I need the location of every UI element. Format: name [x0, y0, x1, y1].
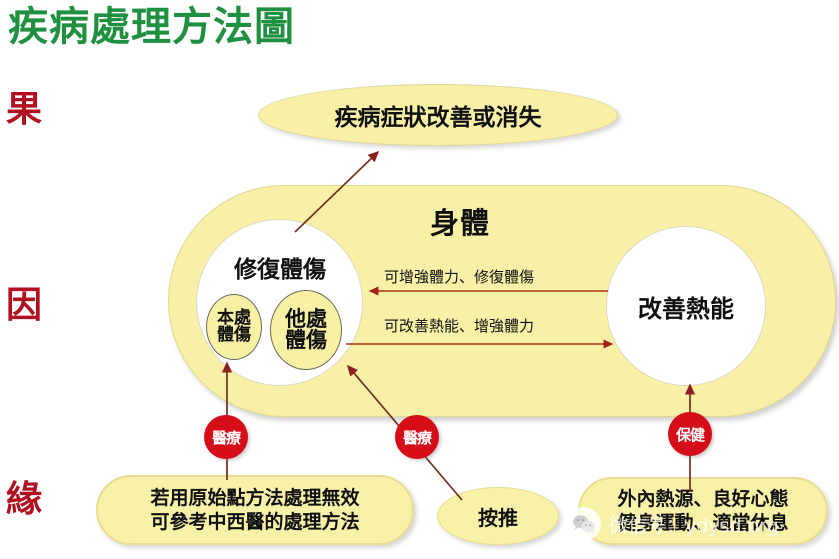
remote-injury-label: 他處體傷 [285, 309, 327, 351]
remote-injury-circle: 他處體傷 [270, 290, 342, 370]
local-injury-label: 本處體傷 [217, 310, 251, 344]
bottom-left-note-line1: 若用原始點方法處理無效 [150, 486, 359, 510]
badge-healthcare[interactable]: 保健 [668, 412, 712, 456]
local-injury-circle: 本處體傷 [206, 294, 262, 360]
badge-medical-2[interactable]: 醫療 [395, 415, 439, 459]
improve-heat-circle: 改善熱能 [606, 226, 766, 386]
flow-label-to-right: 可改善熱能、增強體力 [384, 315, 534, 336]
bottom-right-note-line1: 外內熱源、良好心態 [617, 487, 788, 511]
bottom-left-note-line2: 可參考中西醫的處理方法 [150, 510, 359, 534]
bottom-mid-note-label: 按推 [478, 502, 518, 531]
axis-label-condition: 緣 [6, 482, 42, 518]
diagram-canvas: 疾病處理方法圖 果 因 緣 身體 修復體傷 本處體傷 他處體傷 改善熱能 可增強… [0, 0, 839, 559]
axis-label-effect: 果 [6, 92, 42, 128]
badge-medical-1-label: 醫療 [212, 427, 240, 448]
badge-medical-1[interactable]: 醫療 [204, 415, 248, 459]
bottom-mid-note: 按推 [437, 487, 559, 545]
improve-heat-label: 改善熱能 [638, 289, 734, 324]
outcome-ellipse: 疾病症狀改善或消失 [258, 84, 618, 146]
badge-medical-2-label: 醫療 [403, 427, 431, 448]
bottom-right-note-line2: 健身運動、適當休息 [617, 511, 788, 535]
body-label: 身體 [430, 200, 490, 242]
repair-injury-label: 修復體傷 [212, 250, 348, 284]
bottom-right-note: 外內熱源、良好心態 健身運動、適當休息 [578, 477, 828, 545]
badge-healthcare-label: 保健 [676, 424, 704, 445]
axis-label-cause: 因 [6, 288, 42, 324]
flow-label-to-left: 可增強體力、修復體傷 [384, 266, 534, 287]
page-title: 疾病處理方法圖 [8, 4, 295, 50]
outcome-label: 疾病症狀改善或消失 [335, 98, 542, 132]
bottom-left-note: 若用原始點方法處理無效 可參考中西醫的處理方法 [96, 475, 414, 545]
